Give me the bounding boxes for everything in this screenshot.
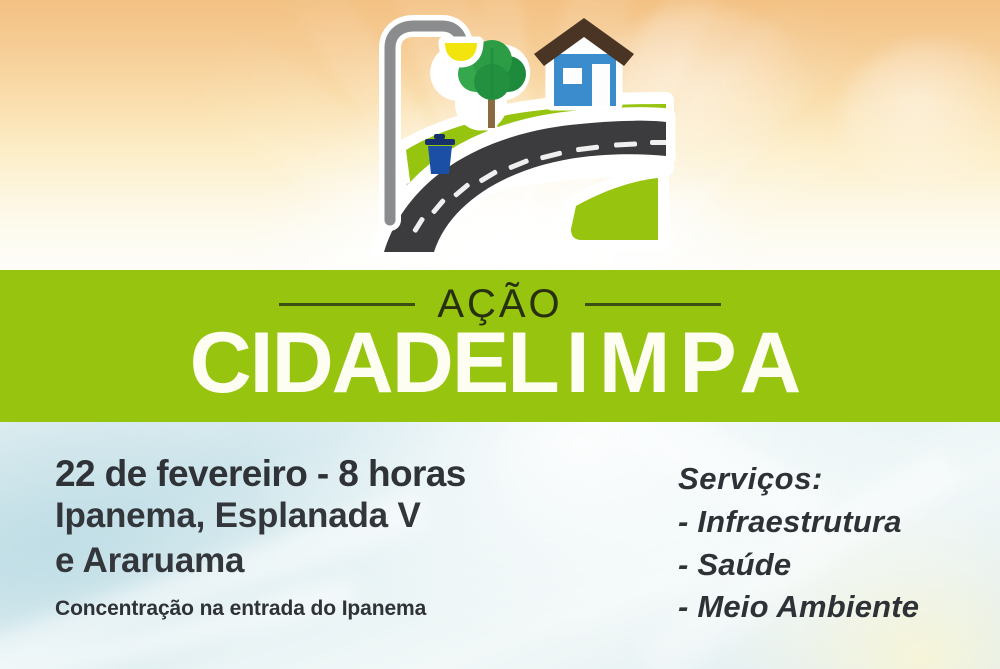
service-item-meio-ambiente: - Meio Ambiente	[678, 586, 919, 629]
event-location-line-1: Ipanema, Esplanada V	[55, 494, 466, 539]
rule-right	[585, 303, 721, 306]
services-heading: Serviços:	[678, 458, 919, 501]
service-item-infraestrutura: - Infraestrutura	[678, 501, 919, 544]
bottom-info-background: 22 de fevereiro - 8 horas Ipanema, Espla…	[0, 422, 1000, 669]
event-details: 22 de fevereiro - 8 horas Ipanema, Espla…	[55, 455, 466, 621]
green-banner: AÇÃO CIDADELIMPA	[0, 270, 1000, 422]
city-street-illustration	[366, 8, 676, 258]
poster-title: CIDADELIMPA	[0, 320, 1000, 406]
service-item-saude: - Saúde	[678, 544, 919, 587]
house-icon	[534, 18, 634, 106]
event-location-line-2: e Araruama	[55, 539, 466, 584]
title-part-limpa: IMPA	[558, 315, 811, 411]
event-date: 22 de fevereiro - 8 horas	[55, 455, 466, 494]
rule-left	[279, 303, 415, 306]
light-blob	[840, 40, 1000, 200]
services-list: Serviços: - Infraestrutura - Saúde - Mei…	[678, 458, 919, 629]
event-note: Concentração na entrada do Ipanema	[55, 597, 466, 621]
poster: AÇÃO CIDADELIMPA 22 de fevereiro - 8 hor…	[0, 0, 1000, 669]
title-part-cidadel: CIDADEL	[190, 315, 558, 411]
